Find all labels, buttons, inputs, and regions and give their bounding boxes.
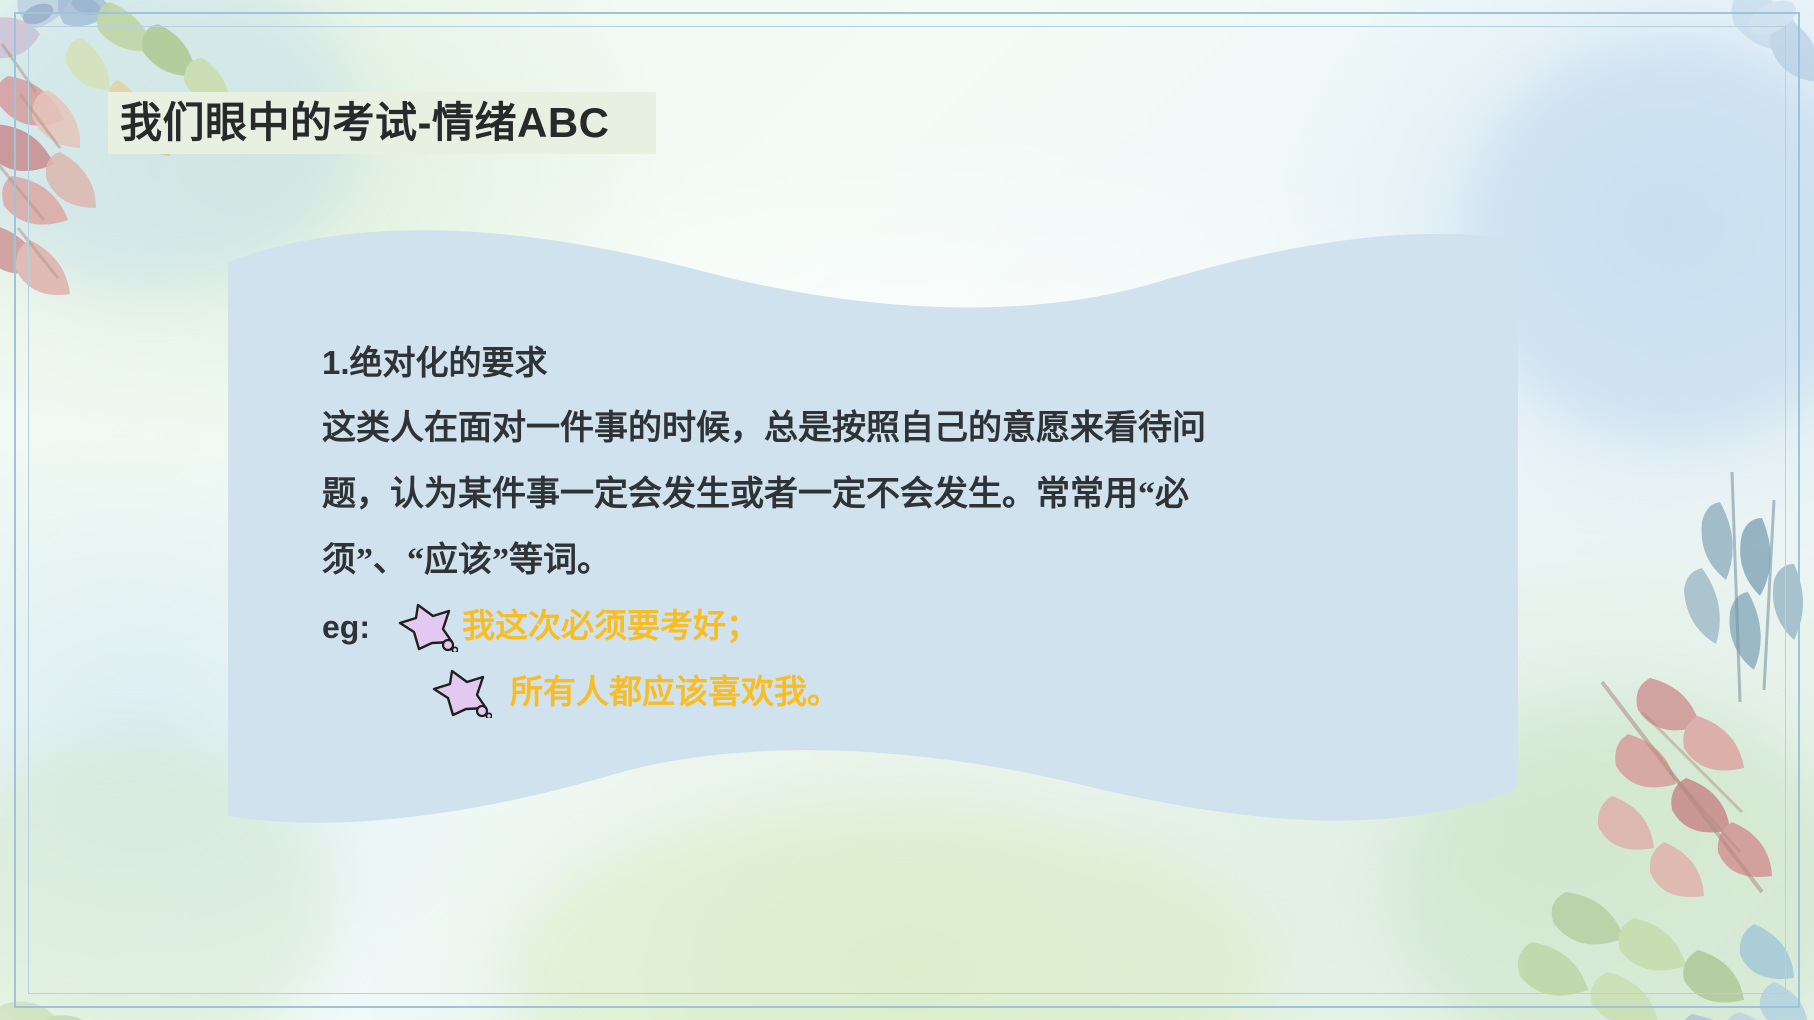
example-text-1: 我这次必须要考好； (462, 594, 759, 660)
card-text-block: 1.绝对化的要求 这类人在面对一件事的时候，总是按照自己的意愿来看待问 题，认为… (322, 330, 1442, 726)
presentation-slide: 我们眼中的考试-情绪ABC 1.绝对化的要求 这类人在面对一件事的时候，总是按照… (0, 0, 1814, 1020)
paragraph-line-1: 这类人在面对一件事的时候，总是按照自己的意愿来看待问 (322, 396, 1442, 462)
page-title: 我们眼中的考试-情绪ABC (120, 93, 820, 153)
example-text-2: 所有人都应该喜欢我。 (510, 660, 840, 726)
content-heading: 1.绝对化的要求 (322, 330, 1442, 396)
example-row-1: eg: 我这次必须要考好； (322, 594, 1442, 660)
paragraph-line-2: 题，认为某件事一定会发生或者一定不会发生。常常用“必 (322, 462, 1442, 528)
paragraph-line-3: 须”、“应该”等词。 (322, 528, 1442, 594)
example-label: eg: (322, 594, 396, 660)
example-label-spacer: eg: (356, 660, 430, 726)
star-icon (430, 668, 492, 718)
example-row-2: eg: 所有人都应该喜欢我。 (356, 660, 1442, 726)
star-icon (396, 602, 458, 652)
